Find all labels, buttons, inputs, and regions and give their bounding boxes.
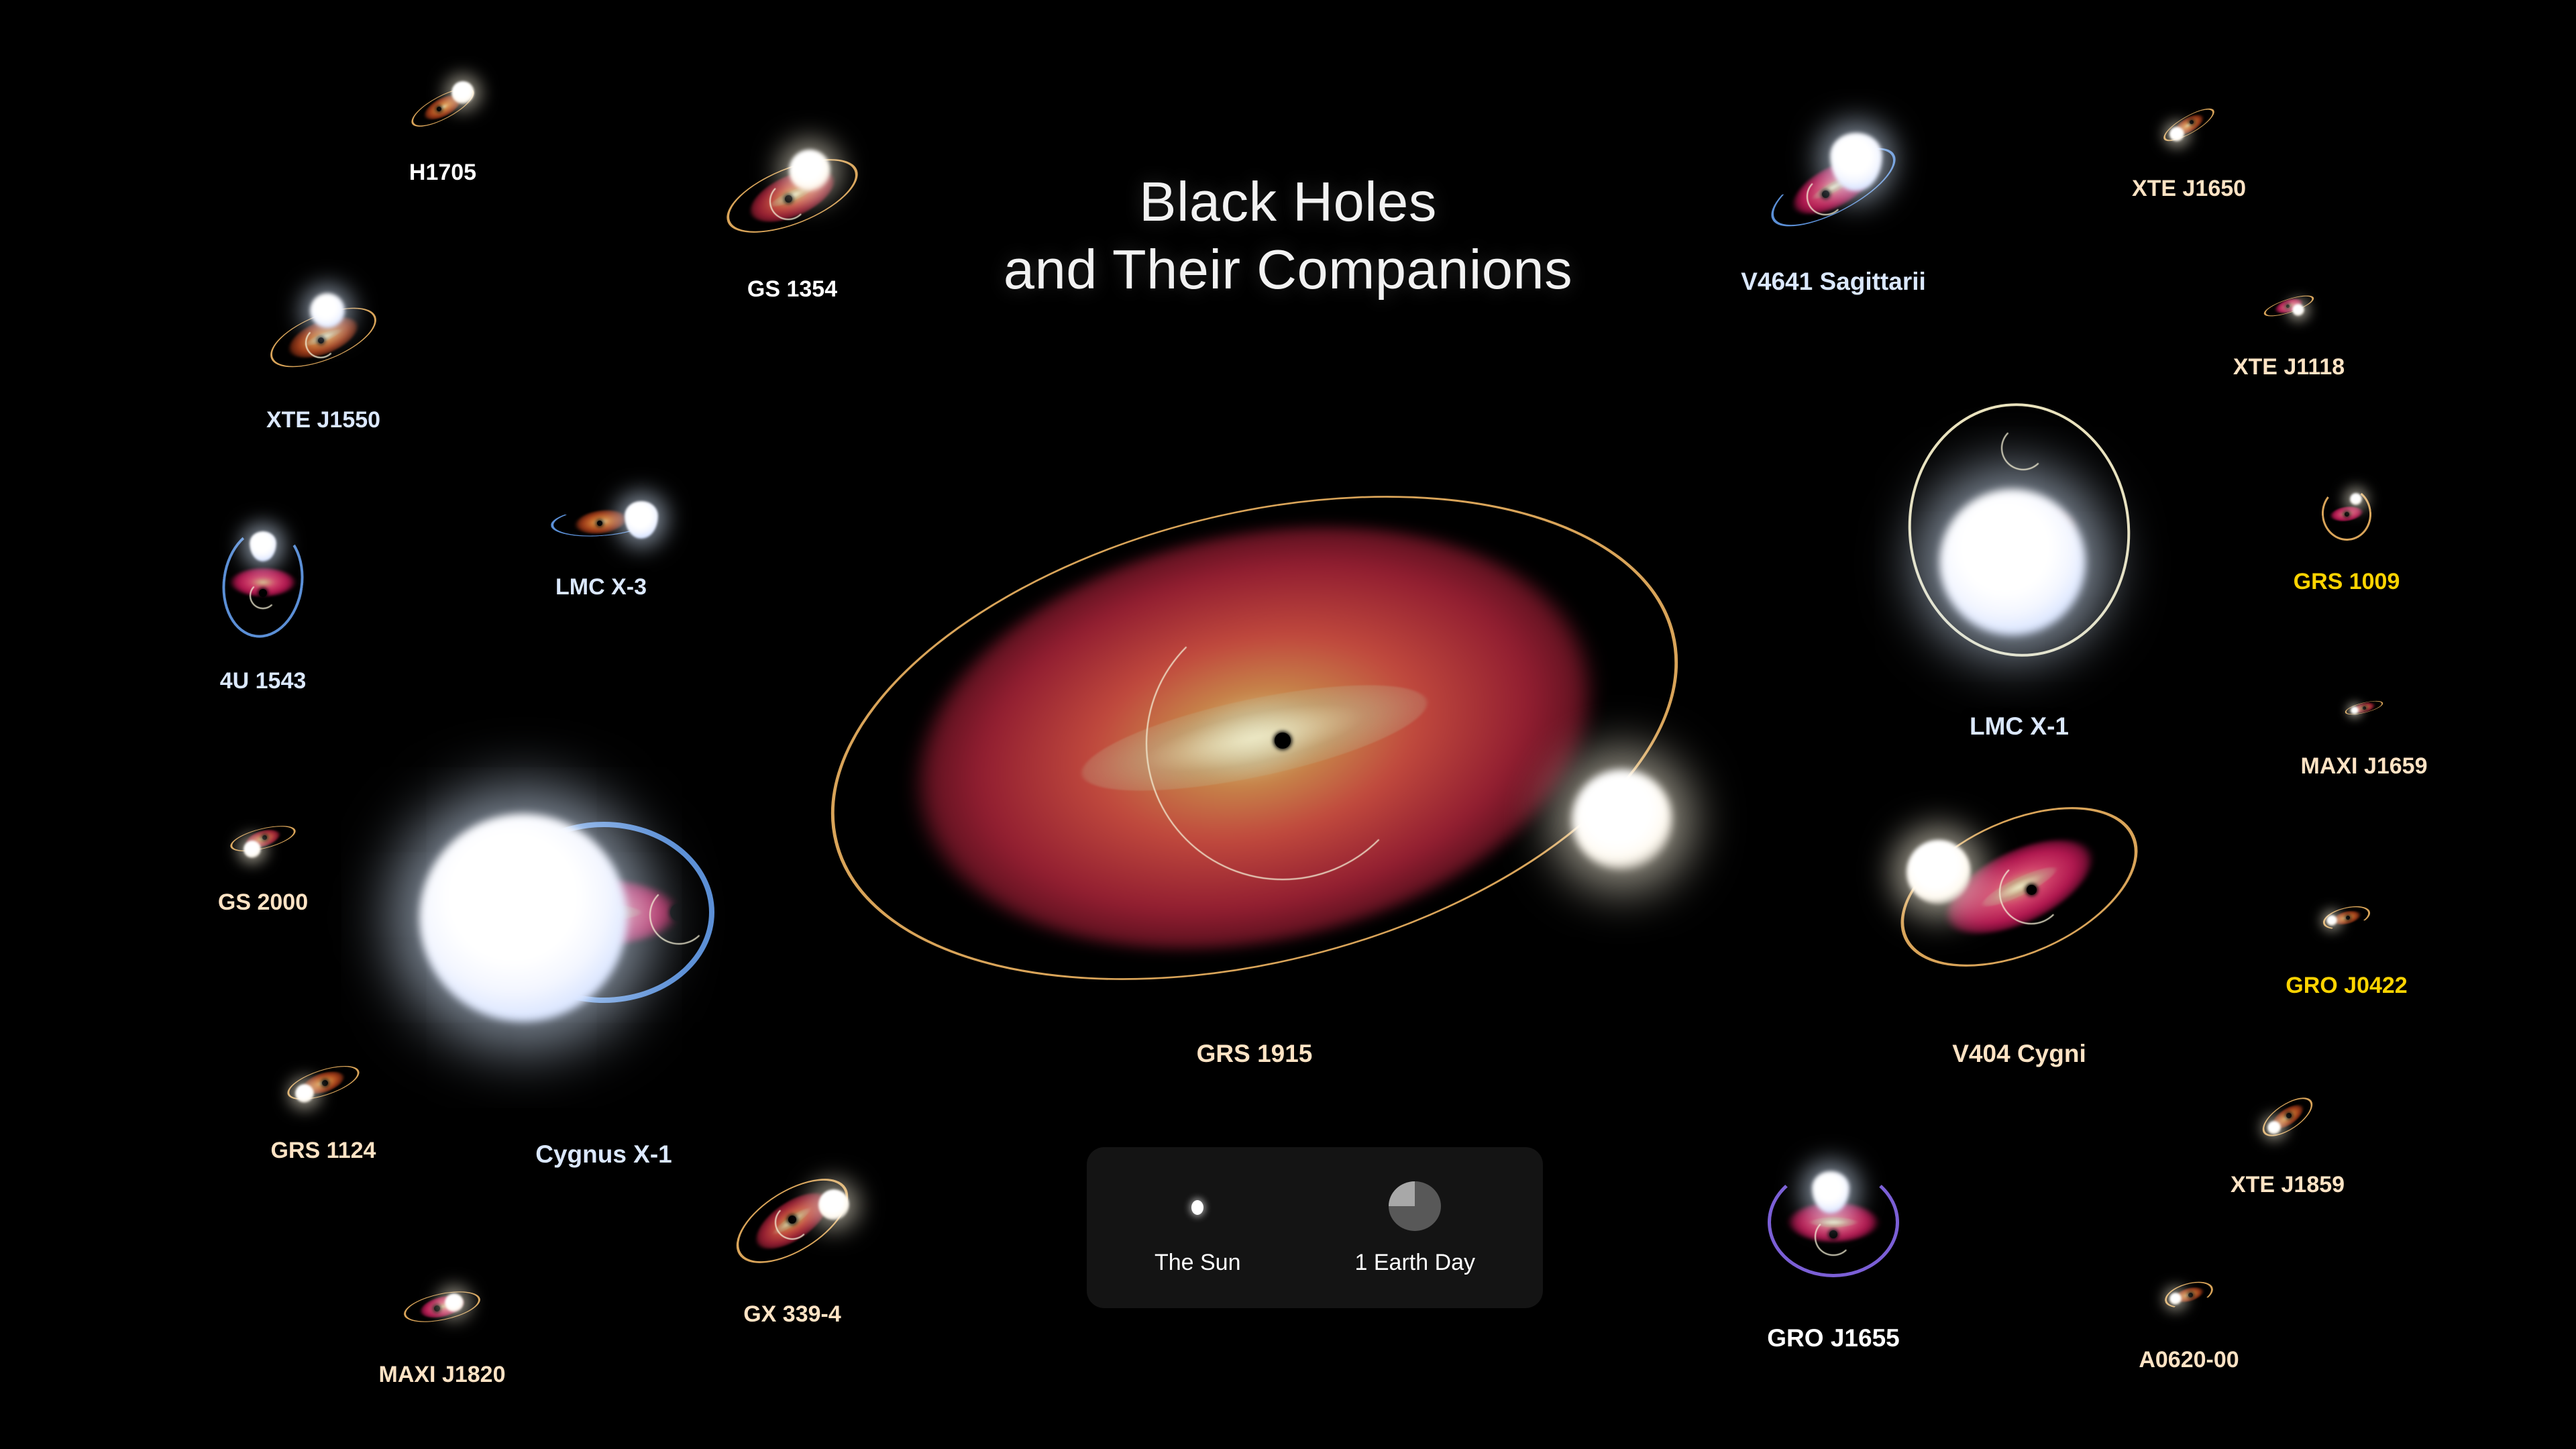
- system-graphic: [2145, 88, 2233, 162]
- system-label-xtej1650: XTE J1650: [2132, 176, 2246, 202]
- accretion-stream: [1999, 860, 2063, 924]
- black-hole: [2286, 1113, 2292, 1118]
- system-label-v404cygni: V404 Cygni: [1952, 1040, 2086, 1068]
- system-label-grs1124: GRS 1124: [271, 1138, 376, 1164]
- system-xtej1859[interactable]: XTE J1859: [2237, 1077, 2338, 1157]
- black-hole: [2346, 916, 2350, 920]
- system-label-grs1009: GRS 1009: [2294, 569, 2400, 595]
- system-label-xtej1859: XTE J1859: [2231, 1172, 2345, 1198]
- system-graphic: [2142, 1258, 2236, 1332]
- black-hole: [2286, 305, 2290, 308]
- system-grs1009[interactable]: GRS 1009: [2296, 474, 2397, 554]
- black-hole: [437, 107, 441, 111]
- system-groj0422[interactable]: GRO J0422: [2296, 877, 2397, 958]
- system-label-groj0422: GRO J0422: [2286, 973, 2407, 999]
- system-label-groj1655: GRO J1655: [1767, 1324, 1899, 1352]
- accretion-stream: [649, 885, 708, 945]
- system-graphic: [389, 724, 818, 1100]
- system-v4641sgr[interactable]: V4641 Sagittarii: [1746, 123, 1921, 251]
- system-label-grs1915: GRS 1915: [1197, 1040, 1313, 1068]
- system-graphic: [537, 482, 665, 562]
- earth-day-clock-icon: [1389, 1181, 1441, 1231]
- system-graphic: [808, 443, 1701, 1033]
- system-h1705[interactable]: H1705: [399, 70, 486, 144]
- companion-star: [2169, 1293, 2182, 1305]
- companion-star: [445, 1293, 464, 1312]
- sun-dot-icon: [1191, 1200, 1203, 1215]
- system-graphic: [715, 1161, 869, 1281]
- system-grs1124[interactable]: GRS 1124: [273, 1042, 374, 1123]
- system-graphic: [2296, 474, 2397, 554]
- companion-star: [625, 501, 658, 539]
- legend-item-sun: The Sun: [1155, 1180, 1241, 1276]
- system-graphic: [2237, 1077, 2338, 1157]
- system-label-cygnusx1: Cygnus X-1: [535, 1140, 672, 1169]
- companion-star: [2169, 127, 2184, 142]
- companion-star: [1907, 840, 1971, 904]
- system-graphic: [399, 70, 486, 144]
- system-graphic: [1878, 780, 2160, 994]
- companion-star: [818, 1189, 849, 1220]
- accretion-stream: [1146, 606, 1419, 880]
- system-label-xtej1118: XTE J1118: [2233, 354, 2345, 380]
- companion-star: [2292, 304, 2304, 316]
- system-graphic: [1878, 382, 2160, 678]
- system-label-4u1543: 4U 1543: [220, 668, 307, 694]
- system-grs1915[interactable]: GRS 1915: [808, 443, 1701, 1033]
- accretion-stream: [305, 327, 336, 358]
- system-label-gx3394: GX 339-4: [743, 1301, 841, 1328]
- companion-star: [419, 814, 627, 1022]
- companion-star: [2351, 706, 2359, 714]
- system-label-lmcx1: LMC X-1: [1970, 712, 2069, 741]
- black-hole: [322, 1080, 328, 1086]
- system-a0620[interactable]: A0620-00: [2142, 1258, 2236, 1332]
- accretion-stream: [1807, 178, 1843, 215]
- accretion-stream: [1815, 1218, 1851, 1255]
- system-xtej1118[interactable]: XTE J1118: [2245, 272, 2332, 339]
- system-graphic: [206, 512, 320, 653]
- system-label-maxij1820: MAXI J1820: [379, 1362, 506, 1388]
- companion-star: [295, 1084, 314, 1103]
- system-graphic: [260, 284, 387, 391]
- system-xtej1550[interactable]: XTE J1550: [260, 284, 387, 391]
- system-label-gs1354: GS 1354: [747, 276, 837, 303]
- companion-star: [1572, 769, 1672, 870]
- companion-star: [1939, 489, 2086, 635]
- system-graphic: [1746, 123, 1921, 251]
- system-graphic: [2320, 674, 2408, 741]
- system-groj1655[interactable]: GRO J1655: [1739, 1142, 1927, 1303]
- system-graphic: [2296, 877, 2397, 958]
- system-gx3394[interactable]: GX 339-4: [715, 1161, 869, 1281]
- companion-star: [2267, 1121, 2281, 1134]
- legend-item-earth-day: 1 Earth Day: [1355, 1180, 1476, 1276]
- system-graphic: [1739, 1142, 1927, 1303]
- black-hole: [2363, 706, 2366, 710]
- legend-label: 1 Earth Day: [1355, 1250, 1476, 1276]
- companion-star: [244, 841, 261, 858]
- system-gs2000[interactable]: GS 2000: [219, 802, 307, 875]
- system-maxij1659[interactable]: MAXI J1659: [2320, 674, 2408, 741]
- system-maxij1820[interactable]: MAXI J1820: [392, 1267, 492, 1347]
- companion-star: [310, 293, 345, 328]
- black-hole: [262, 835, 267, 840]
- system-graphic: [219, 802, 307, 875]
- system-graphic: [392, 1267, 492, 1347]
- black-hole: [597, 521, 602, 526]
- system-lmcx3[interactable]: LMC X-3: [537, 482, 665, 562]
- system-label-a0620: A0620-00: [2139, 1347, 2239, 1373]
- legend-label: The Sun: [1155, 1250, 1241, 1276]
- scale-legend: The Sun1 Earth Day: [1087, 1147, 1543, 1308]
- system-label-h1705: H1705: [409, 160, 476, 186]
- system-graphic: [715, 136, 869, 256]
- system-label-xtej1550: XTE J1550: [266, 407, 380, 433]
- black-hole: [2188, 1293, 2193, 1297]
- system-v404cygni[interactable]: V404 Cygni: [1878, 780, 2160, 994]
- system-lmcx1[interactable]: LMC X-1: [1878, 382, 2160, 678]
- companion-star: [2326, 915, 2337, 926]
- system-graphic: [273, 1042, 374, 1123]
- system-gs1354[interactable]: GS 1354: [715, 136, 869, 256]
- system-label-maxij1659: MAXI J1659: [2301, 753, 2428, 780]
- companion-star: [451, 81, 474, 104]
- accretion-stream: [2001, 426, 2045, 470]
- system-label-gs2000: GS 2000: [218, 890, 308, 916]
- system-label-v4641sgr: V4641 Sagittarii: [1741, 268, 1926, 296]
- starfield-canvas: Black Holes and Their Companions H1705GS…: [0, 0, 2576, 1449]
- black-hole: [2345, 512, 2349, 517]
- black-hole: [2190, 120, 2194, 124]
- system-4u1543[interactable]: 4U 1543: [206, 512, 320, 653]
- system-cygnusx1[interactable]: Cygnus X-1: [389, 724, 818, 1100]
- companion-star: [2350, 493, 2362, 505]
- black-hole: [434, 1305, 440, 1311]
- system-graphic: [2245, 272, 2332, 339]
- system-xtej1650[interactable]: XTE J1650: [2145, 88, 2233, 162]
- system-label-lmcx3: LMC X-3: [555, 574, 647, 600]
